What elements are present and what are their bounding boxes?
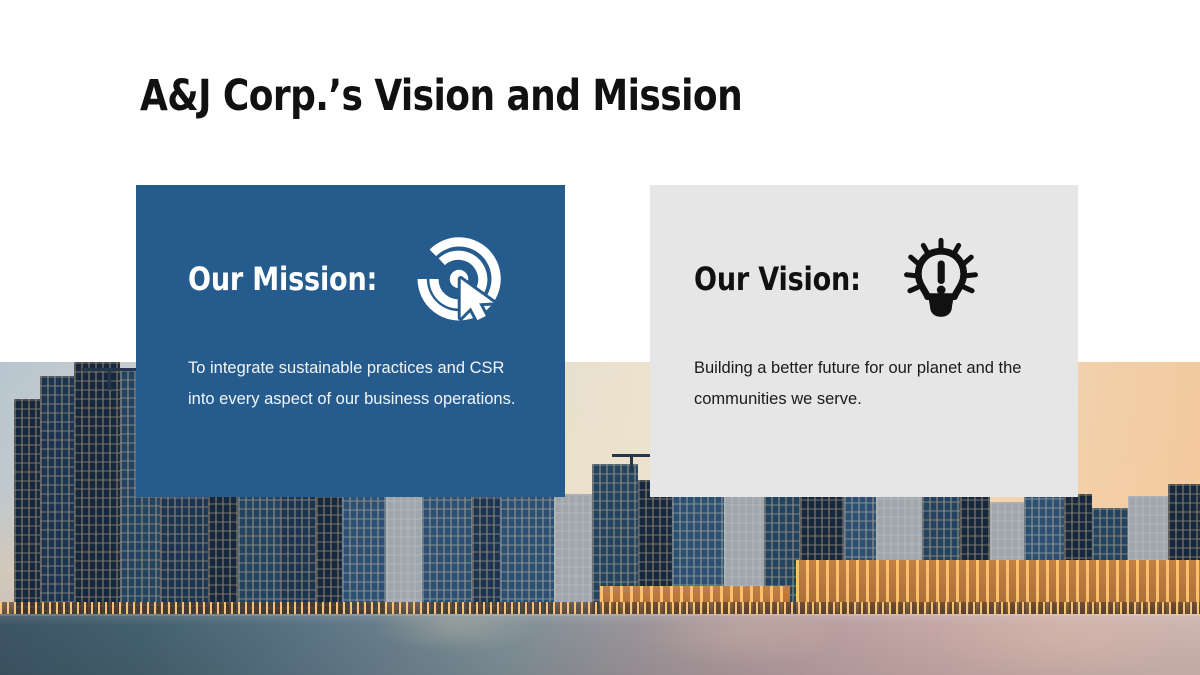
vision-body-text: Building a better future for our planet … — [694, 353, 1024, 415]
mission-heading: Our Mission: — [188, 260, 377, 298]
vision-card: Our Vision: — [650, 185, 1078, 497]
slide-canvas: A&J Corp.’s Vision and Mission Our Missi… — [0, 0, 1200, 675]
lightbulb-exclamation-icon — [899, 237, 983, 321]
target-cursor-icon — [417, 237, 501, 321]
mission-body-text: To integrate sustainable practices and C… — [188, 353, 518, 415]
mission-card: Our Mission: To integrate sustainable pr… — [136, 185, 565, 497]
vision-card-header: Our Vision: — [694, 242, 1052, 316]
mission-card-header: Our Mission: — [188, 242, 539, 316]
vision-heading: Our Vision: — [694, 260, 861, 298]
page-title: A&J Corp.’s Vision and Mission — [140, 72, 742, 121]
water-surface — [0, 614, 1200, 675]
